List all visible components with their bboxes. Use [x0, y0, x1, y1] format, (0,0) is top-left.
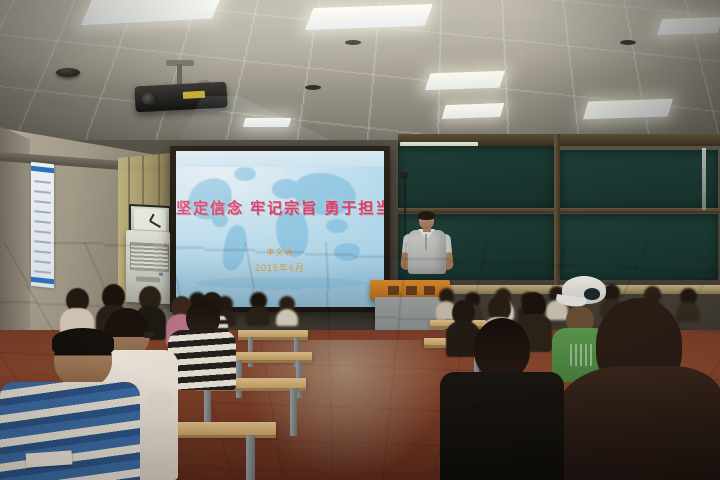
black-top-student	[440, 318, 564, 480]
chalkboard-panel	[560, 150, 718, 208]
hair	[52, 328, 114, 354]
desk	[228, 352, 312, 360]
ceiling-projector	[134, 82, 227, 113]
desk	[238, 330, 308, 337]
shirt-sleeve	[148, 392, 174, 410]
projector-mount-pole	[177, 64, 182, 86]
slide-title: 坚定信念 牢记宗旨 勇于担当	[176, 197, 384, 218]
chalkboard-panel	[398, 146, 554, 208]
eyeglasses-icon	[144, 332, 154, 338]
striped-shirt-student	[168, 300, 236, 386]
long-hair-foreground-student	[556, 298, 720, 480]
presenter-hair	[418, 211, 435, 220]
desk-leg	[246, 435, 255, 480]
board-edge-light	[702, 148, 706, 210]
classroom-photo: 坚定信念 牢记宗旨 勇于担当 李文涛 2015年6月 Windows XP	[0, 0, 720, 480]
projector-lens-icon	[141, 92, 158, 105]
desk-leg	[290, 388, 297, 436]
projector-badge	[183, 91, 205, 99]
